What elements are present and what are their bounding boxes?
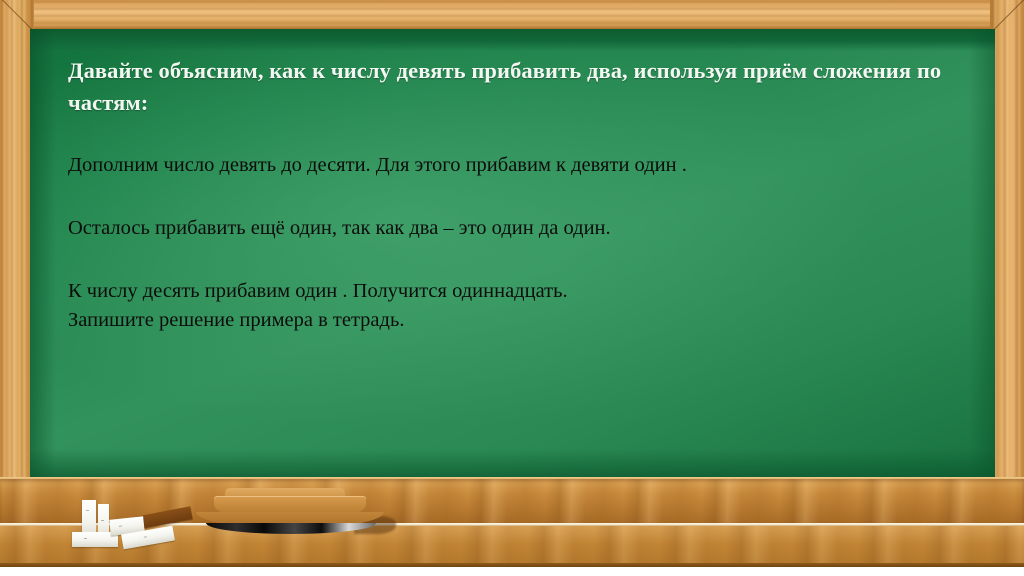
green-chalkboard: Давайте объясним, как к числу девять при… — [30, 29, 995, 479]
lesson-step-3: К числу десять прибавим один . Получится… — [68, 277, 950, 306]
board-bottom-shading — [30, 449, 995, 479]
lesson-step-4: Запишите решение примера в тетрадь. — [68, 306, 950, 335]
chalk-ledge-bottom-edge — [0, 563, 1024, 567]
lesson-heading: Давайте объясним, как к числу девять при… — [68, 55, 950, 119]
board-top-shading — [30, 29, 995, 51]
board-text-content: Давайте объясним, как к числу девять при… — [68, 55, 950, 335]
lesson-body: Дополним число девять до десяти. Для это… — [68, 151, 950, 335]
slide-canvas: Давайте объясним, как к числу девять при… — [0, 0, 1024, 576]
chalk-pieces — [70, 498, 190, 556]
lesson-step-1: Дополним число девять до десяти. Для это… — [68, 151, 950, 180]
board-left-shading — [30, 29, 56, 479]
frame-plank-top — [0, 0, 1024, 30]
board-right-shading — [969, 29, 995, 479]
lesson-step-2: Осталось прибавить ещё один, так как два… — [68, 214, 950, 243]
